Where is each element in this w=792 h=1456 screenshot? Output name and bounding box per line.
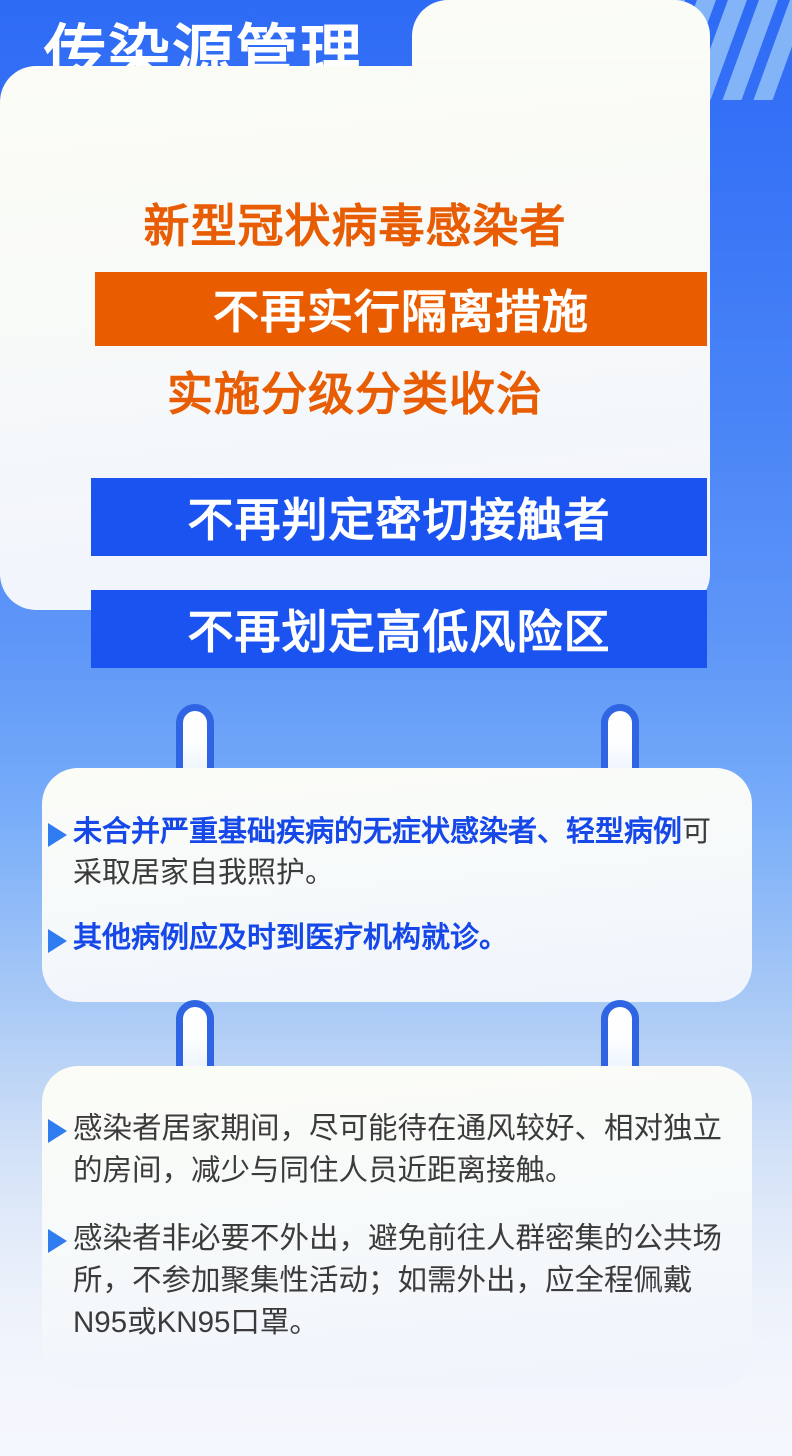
triangle-right-icon: [48, 823, 67, 847]
highlight-bar-orange: 不再实行隔离措施: [95, 272, 707, 346]
list-item-text: 感染者非必要不外出，避免前往人群密集的公共场所，不参加聚集性活动；如需外出，应全…: [73, 1218, 726, 1344]
list-item: 未合并严重基础疾病的无症状感染者、轻型病例可采取居家自我照护。: [48, 812, 718, 894]
list-item-text: 未合并严重基础疾病的无症状感染者、轻型病例可采取居家自我照护。: [73, 812, 718, 894]
triangle-right-icon: [48, 929, 67, 953]
highlight-bar-blue-risk-zone: 不再划定高低风险区: [91, 590, 707, 668]
triangle-right-icon: [48, 1229, 67, 1253]
list-item: 感染者居家期间，尽可能待在通风较好、相对独立的房间，减少与同住人员近距离接触。: [48, 1108, 726, 1192]
list-item: 感染者非必要不外出，避免前往人群密集的公共场所，不参加聚集性活动；如需外出，应全…: [48, 1218, 726, 1344]
highlight-bar-blue-close-contact: 不再判定密切接触者: [91, 478, 707, 556]
poster-root: 传染源管理 新型冠状病毒感染者 不再实行隔离措施 实施分级分类收治 不再判定密切…: [0, 0, 792, 1456]
highlight-line-one: 新型冠状病毒感染者: [0, 190, 710, 256]
card-notch-fillet: [376, 66, 416, 106]
list-item-text: 感染者居家期间，尽可能待在通风较好、相对独立的房间，减少与同住人员近距离接触。: [73, 1108, 726, 1192]
list-item-emphasis: 未合并严重基础疾病的无症状感染者、轻型病例: [73, 816, 682, 848]
list-item: 其他病例应及时到医疗机构就诊。: [48, 918, 718, 959]
list-item-text: 其他病例应及时到医疗机构就诊。: [73, 918, 508, 959]
highlight-line-three: 实施分级分类收治: [0, 358, 710, 424]
triangle-right-icon: [48, 1119, 67, 1143]
